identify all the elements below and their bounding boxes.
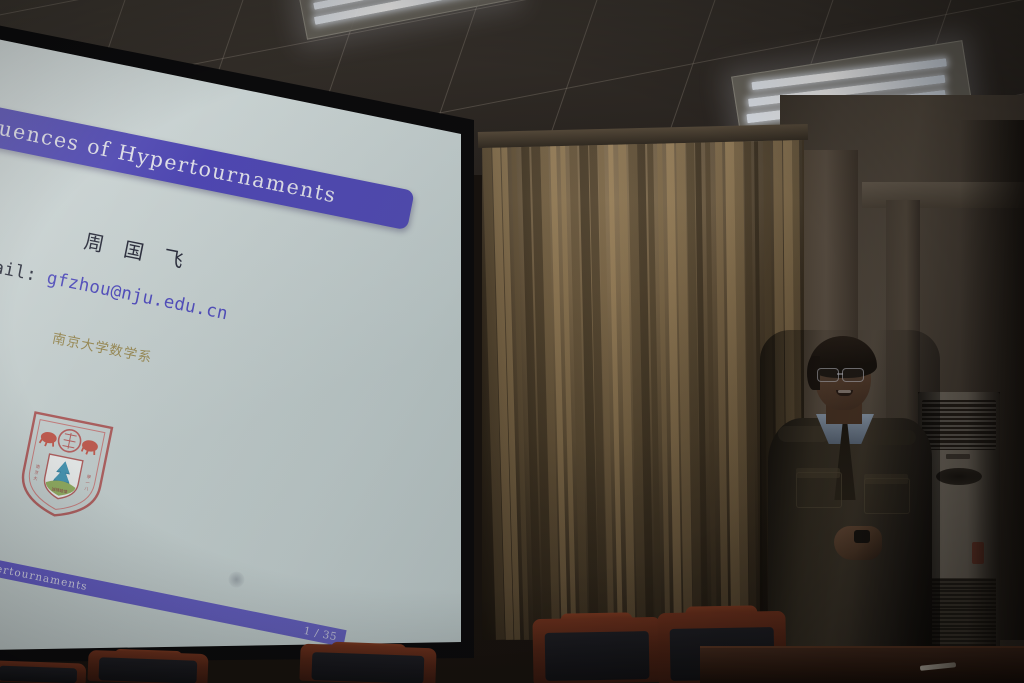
presenter [760, 330, 940, 670]
projection-screen: e Sequences of Hypertournaments 周 国 飞 Em… [0, 10, 492, 670]
conference-chair [532, 617, 661, 683]
chair-backrest-pad [98, 657, 197, 683]
lecture-room-photo: e Sequences of Hypertournaments 周 国 飞 Em… [0, 0, 1024, 683]
chair-backrest-pad [312, 652, 424, 683]
chair-backrest-pad [544, 631, 650, 681]
chair-backrest-pad [0, 665, 78, 683]
conference-table [700, 648, 1024, 683]
conference-chair [0, 660, 86, 683]
window-curtain [482, 140, 804, 640]
conference-chair [299, 644, 436, 683]
conference-chair [87, 650, 208, 683]
presenter-shading [760, 330, 940, 670]
